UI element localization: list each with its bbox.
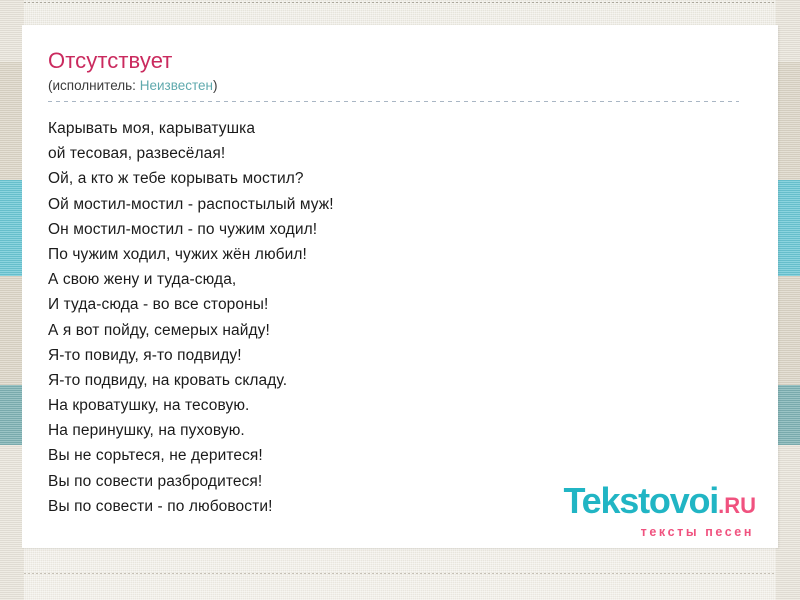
- lyrics-body: Карывать моя, карыватушка ой тесовая, ра…: [48, 116, 752, 519]
- lyric-line: По чужим ходил, чужих жён любил!: [48, 242, 752, 267]
- band-pale: [0, 0, 24, 62]
- lyric-line: Ой мостил-мостил - распостылый муж!: [48, 192, 752, 217]
- band-sand: [776, 276, 800, 385]
- right-decorative-strip: [776, 0, 800, 600]
- lyric-line: Карывать моя, карыватушка: [48, 116, 752, 141]
- band-sand: [0, 276, 24, 385]
- logo-tld: .RU: [718, 493, 756, 518]
- band-teal: [0, 385, 24, 445]
- page-title: Отсутствует: [48, 47, 752, 75]
- lyric-line: Он мостил-мостил - по чужим ходил!: [48, 217, 752, 242]
- band-cyan: [0, 180, 24, 276]
- artist-line: (исполнитель: Неизвестен): [48, 76, 752, 96]
- band-pale: [0, 445, 24, 600]
- lyric-line: Я-то подвиду, на кровать складу.: [48, 368, 752, 393]
- top-divider-rule: [0, 2, 800, 3]
- band-cyan: [776, 180, 800, 276]
- logo-name: Tekstovoi: [564, 480, 719, 521]
- lyric-line: Ой, а кто ж тебе корывать мостил?: [48, 166, 752, 191]
- lyric-line: А я вот пойду, семерых найду!: [48, 318, 752, 343]
- site-logo[interactable]: Tekstovoi.RU тексты песен: [564, 483, 756, 539]
- band-pale: [776, 0, 800, 62]
- lyric-line: ой тесовая, развесёлая!: [48, 141, 752, 166]
- artist-paren-close: ): [213, 78, 218, 93]
- artist-label: (исполнитель:: [48, 78, 136, 93]
- lyric-line: На перинушку, на пуховую.: [48, 418, 752, 443]
- lyric-line: На кроватушку, на тесовую.: [48, 393, 752, 418]
- band-teal: [776, 385, 800, 445]
- left-decorative-strip: [0, 0, 24, 600]
- lyric-line: А свою жену и туда-сюда,: [48, 267, 752, 292]
- bottom-divider-rule: [0, 573, 800, 574]
- band-sand: [0, 62, 24, 180]
- logo-wordmark: Tekstovoi.RU: [564, 483, 756, 524]
- lyric-line: Я-то повиду, я-то подвиду!: [48, 343, 752, 368]
- lyric-line: Вы не сорьтеся, не деритеся!: [48, 443, 752, 468]
- band-sand: [776, 62, 800, 180]
- logo-tagline: тексты песен: [564, 526, 754, 539]
- header-separator: [48, 101, 739, 102]
- lyrics-card: Отсутствует (исполнитель: Неизвестен) Ка…: [22, 25, 778, 548]
- band-pale: [776, 445, 800, 600]
- artist-link[interactable]: Неизвестен: [140, 78, 213, 93]
- lyric-line: И туда-сюда - во все стороны!: [48, 292, 752, 317]
